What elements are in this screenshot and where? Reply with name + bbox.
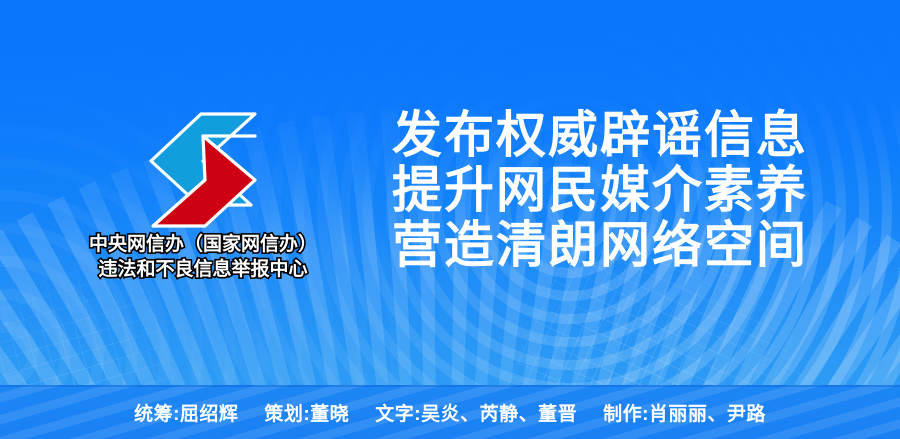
headline-line-1: 发布权威辟谣信息 (392, 108, 862, 163)
organization-name-line-1: 中央网信办（国家网信办） (78, 232, 328, 257)
credit-designers: 制作:肖丽丽、尹路 (603, 399, 766, 426)
headline-block: 发布权威辟谣信息 提升网民媒介素养 营造清朗网络空间 (392, 108, 862, 273)
organization-name-line-2: 违法和不良信息举报中心 (78, 257, 328, 282)
credits-list: 统筹:屈绍辉 策划:董晓 文字:吴炎、芮静、董晋 制作:肖丽丽、尹路 (0, 385, 900, 439)
credit-producer: 统筹:屈绍辉 (134, 399, 238, 426)
headline-line-3: 营造清朗网络空间 (392, 218, 862, 273)
organization-name: 中央网信办（国家网信办） 违法和不良信息举报中心 (78, 232, 328, 282)
credits-bar: 统筹:屈绍辉 策划:董晓 文字:吴炎、芮静、董晋 制作:肖丽丽、尹路 (0, 385, 900, 439)
poster-canvas: 中央网信办（国家网信办） 违法和不良信息举报中心 发布权威辟谣信息 提升网民媒介… (0, 0, 900, 439)
credit-writers: 文字:吴炎、芮静、董晋 (375, 399, 577, 426)
credit-planner: 策划:董晓 (264, 399, 349, 426)
cyber-report-center-chevron-logo-icon (137, 112, 269, 230)
headline-line-2: 提升网民媒介素养 (392, 163, 862, 218)
organization-emblem-block: 中央网信办（国家网信办） 违法和不良信息举报中心 (78, 112, 328, 284)
